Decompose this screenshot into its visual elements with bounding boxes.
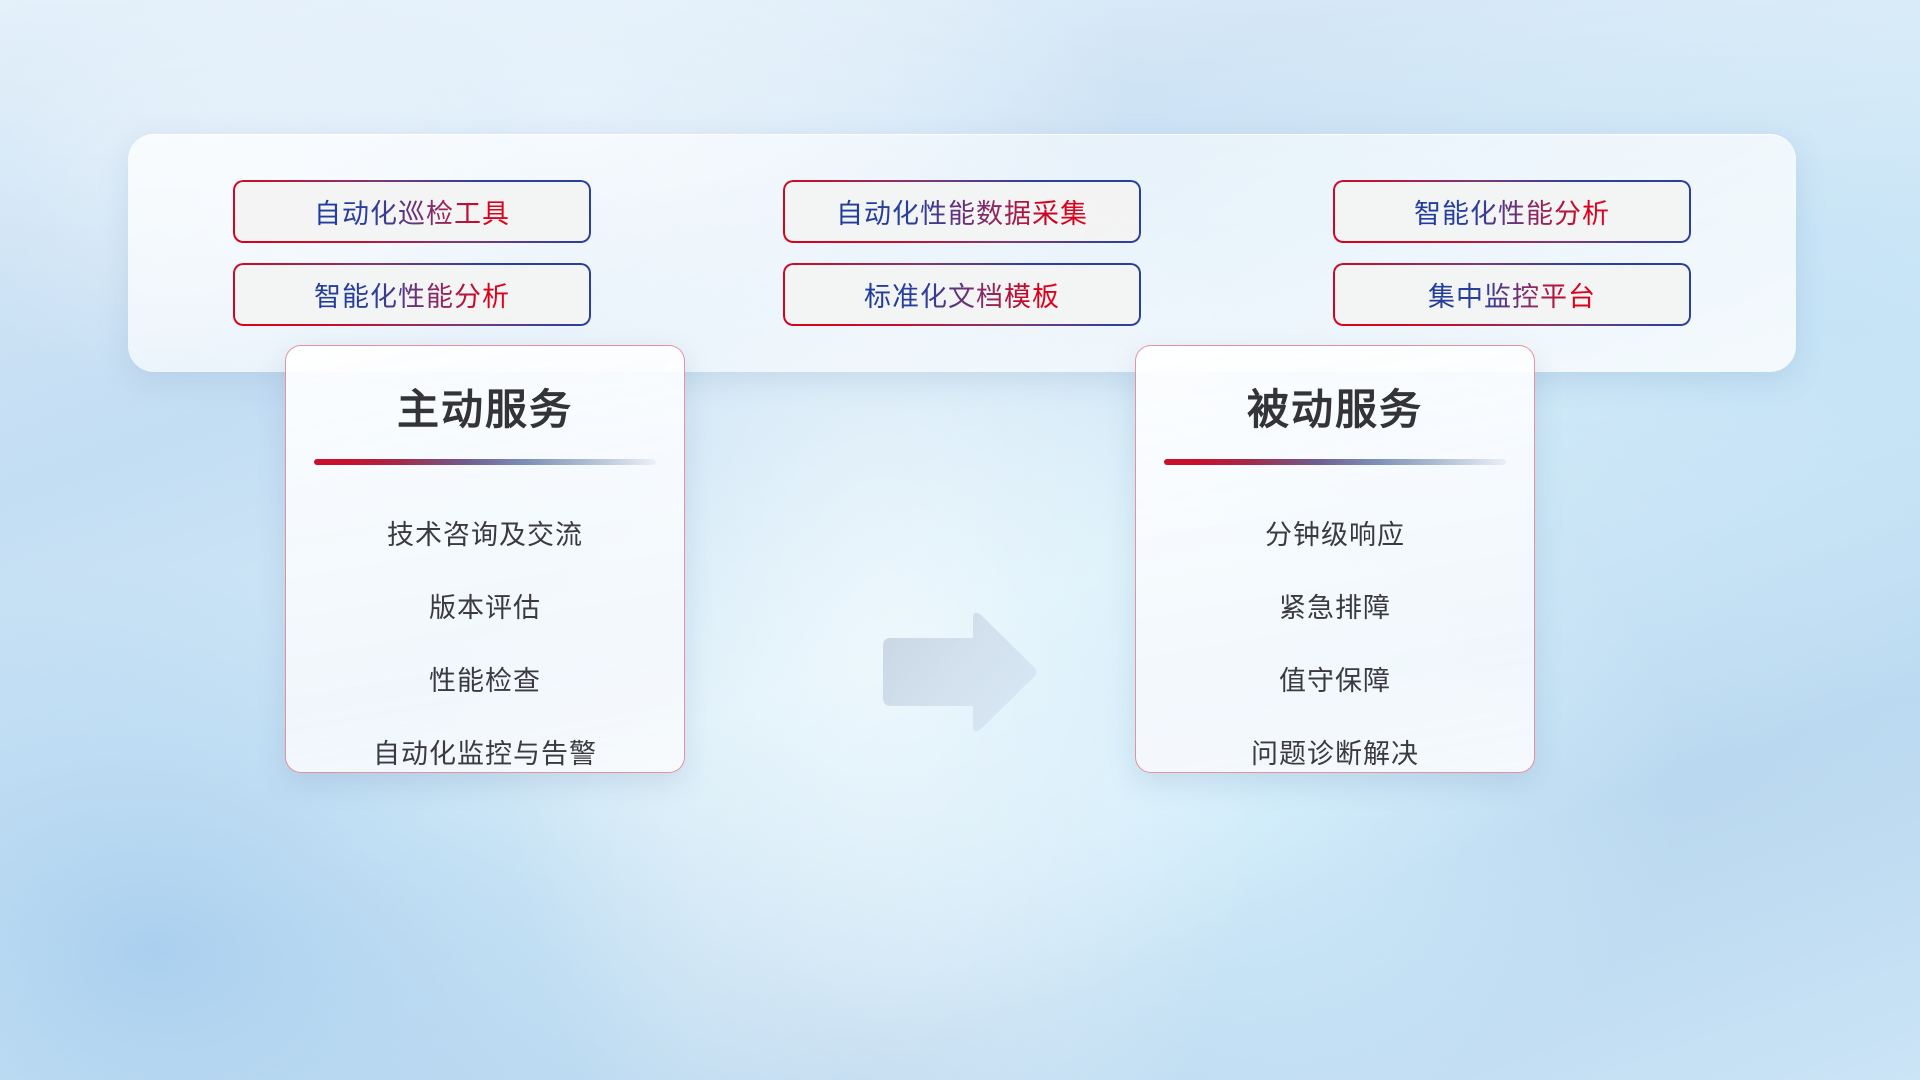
capability-tag[interactable]: 自动化性能数据采集 [783, 180, 1141, 243]
list-item: 问题诊断解决 [1251, 718, 1419, 773]
list-item: 分钟级响应 [1265, 499, 1405, 572]
service-card-active: 主动服务 技术咨询及交流 版本评估 性能检查 自动化监控与告警 健康巡检 [285, 345, 685, 773]
right-arrow-icon [873, 608, 1041, 736]
capability-tag-label: 自动化巡检工具 [314, 192, 510, 231]
list-item: 自动化监控与告警 [373, 718, 597, 773]
list-item: 紧急排障 [1279, 572, 1391, 645]
list-item: 技术咨询及交流 [387, 499, 583, 572]
list-item: 值守保障 [1279, 645, 1391, 718]
capability-tag-label: 自动化性能数据采集 [836, 192, 1088, 231]
capability-tag-label: 集中监控平台 [1428, 275, 1596, 314]
list-item: 性能检查 [429, 645, 541, 718]
capability-tag[interactable]: 智能化性能分析 [233, 263, 591, 326]
card-title: 被动服务 [1136, 376, 1534, 437]
capability-tag[interactable]: 自动化巡检工具 [233, 180, 591, 243]
service-card-passive: 被动服务 分钟级响应 紧急排障 值守保障 问题诊断解决 SLA式服务 [1135, 345, 1535, 773]
capability-tag[interactable]: 集中监控平台 [1333, 263, 1691, 326]
card-divider [314, 459, 656, 465]
list-item: 版本评估 [429, 572, 541, 645]
card-divider [1164, 459, 1506, 465]
card-title: 主动服务 [286, 376, 684, 437]
card-item-list: 分钟级响应 紧急排障 值守保障 问题诊断解决 SLA式服务 [1136, 499, 1534, 773]
capability-tags-panel: 自动化巡检工具 自动化性能数据采集 智能化性能分析 智能化性能分析 标准化文档模… [128, 134, 1796, 372]
capability-tags-grid: 自动化巡检工具 自动化性能数据采集 智能化性能分析 智能化性能分析 标准化文档模… [233, 180, 1691, 326]
capability-tag-label: 智能化性能分析 [1414, 192, 1610, 231]
capability-tag[interactable]: 智能化性能分析 [1333, 180, 1691, 243]
capability-tag-label: 标准化文档模板 [864, 275, 1060, 314]
card-item-list: 技术咨询及交流 版本评估 性能检查 自动化监控与告警 健康巡检 [286, 499, 684, 773]
capability-tag[interactable]: 标准化文档模板 [783, 263, 1141, 326]
capability-tag-label: 智能化性能分析 [314, 275, 510, 314]
